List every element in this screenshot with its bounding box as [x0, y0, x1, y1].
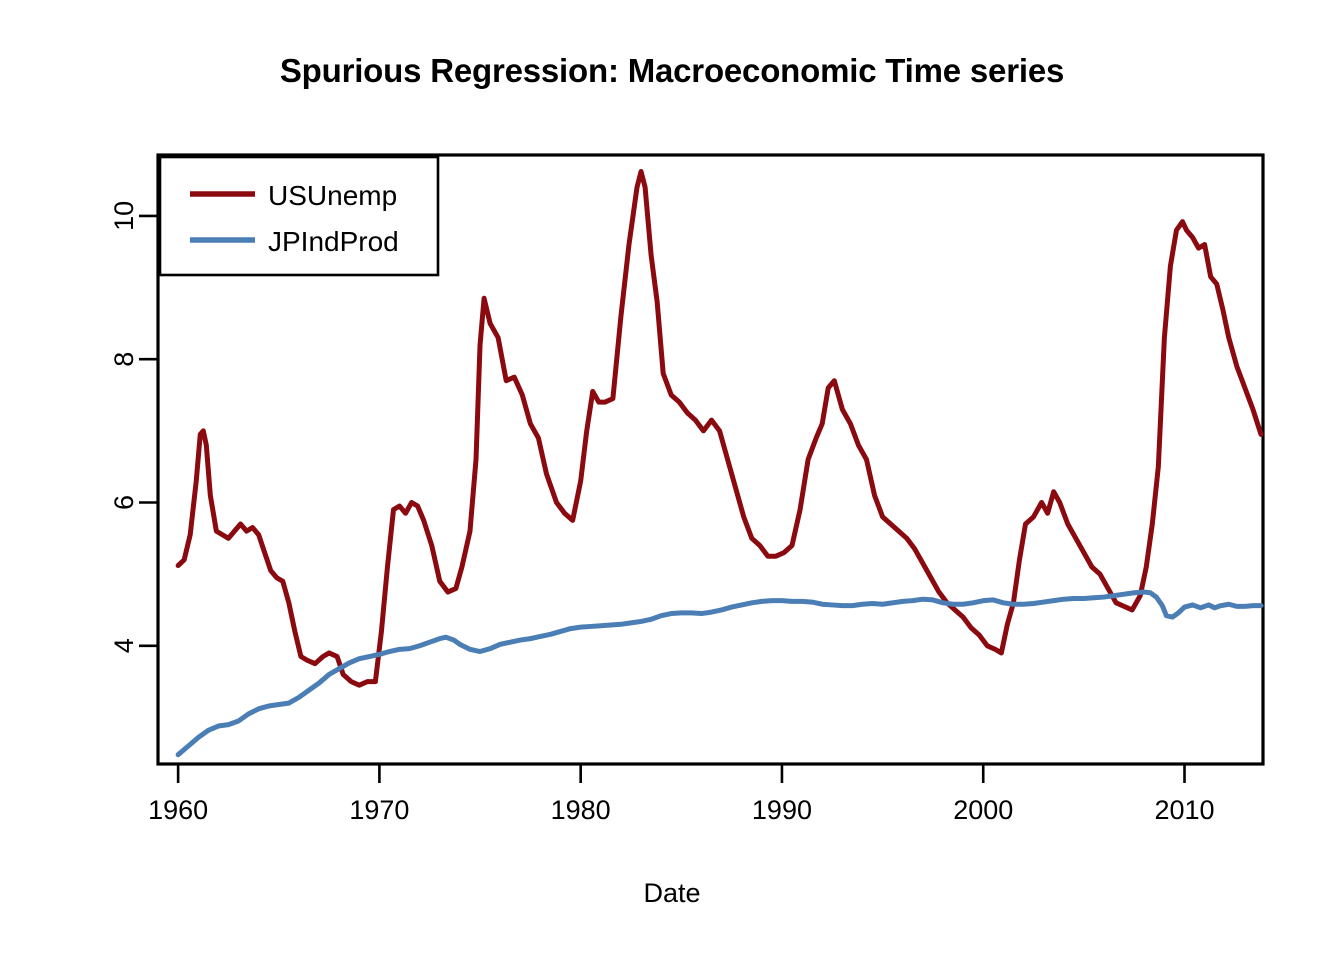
y-tick-label: 8 [109, 352, 139, 367]
y-axis-ticks: 46810 [109, 201, 158, 653]
x-tick-label: 1960 [148, 795, 208, 825]
x-tick-label: 2000 [953, 795, 1013, 825]
x-tick-label: 1970 [349, 795, 409, 825]
x-tick-label: 2010 [1154, 795, 1214, 825]
legend-label-usunemp: USUnemp [268, 180, 397, 211]
legend-box [160, 157, 438, 275]
y-tick-label: 6 [109, 495, 139, 510]
chart-legend: USUnemp JPIndProd [160, 157, 438, 275]
legend-label-jpindprod: JPIndProd [268, 226, 399, 257]
y-tick-label: 10 [109, 201, 139, 231]
x-axis-label: Date [0, 878, 1344, 909]
chart-figure: Spurious Regression: Macroeconomic Time … [0, 0, 1344, 960]
y-tick-label: 4 [109, 638, 139, 653]
plot-area: 46810 196019701980199020002010 USUnemp J… [0, 0, 1344, 960]
x-tick-label: 1980 [551, 795, 611, 825]
x-tick-label: 1990 [752, 795, 812, 825]
x-axis-ticks: 196019701980199020002010 [148, 764, 1214, 825]
